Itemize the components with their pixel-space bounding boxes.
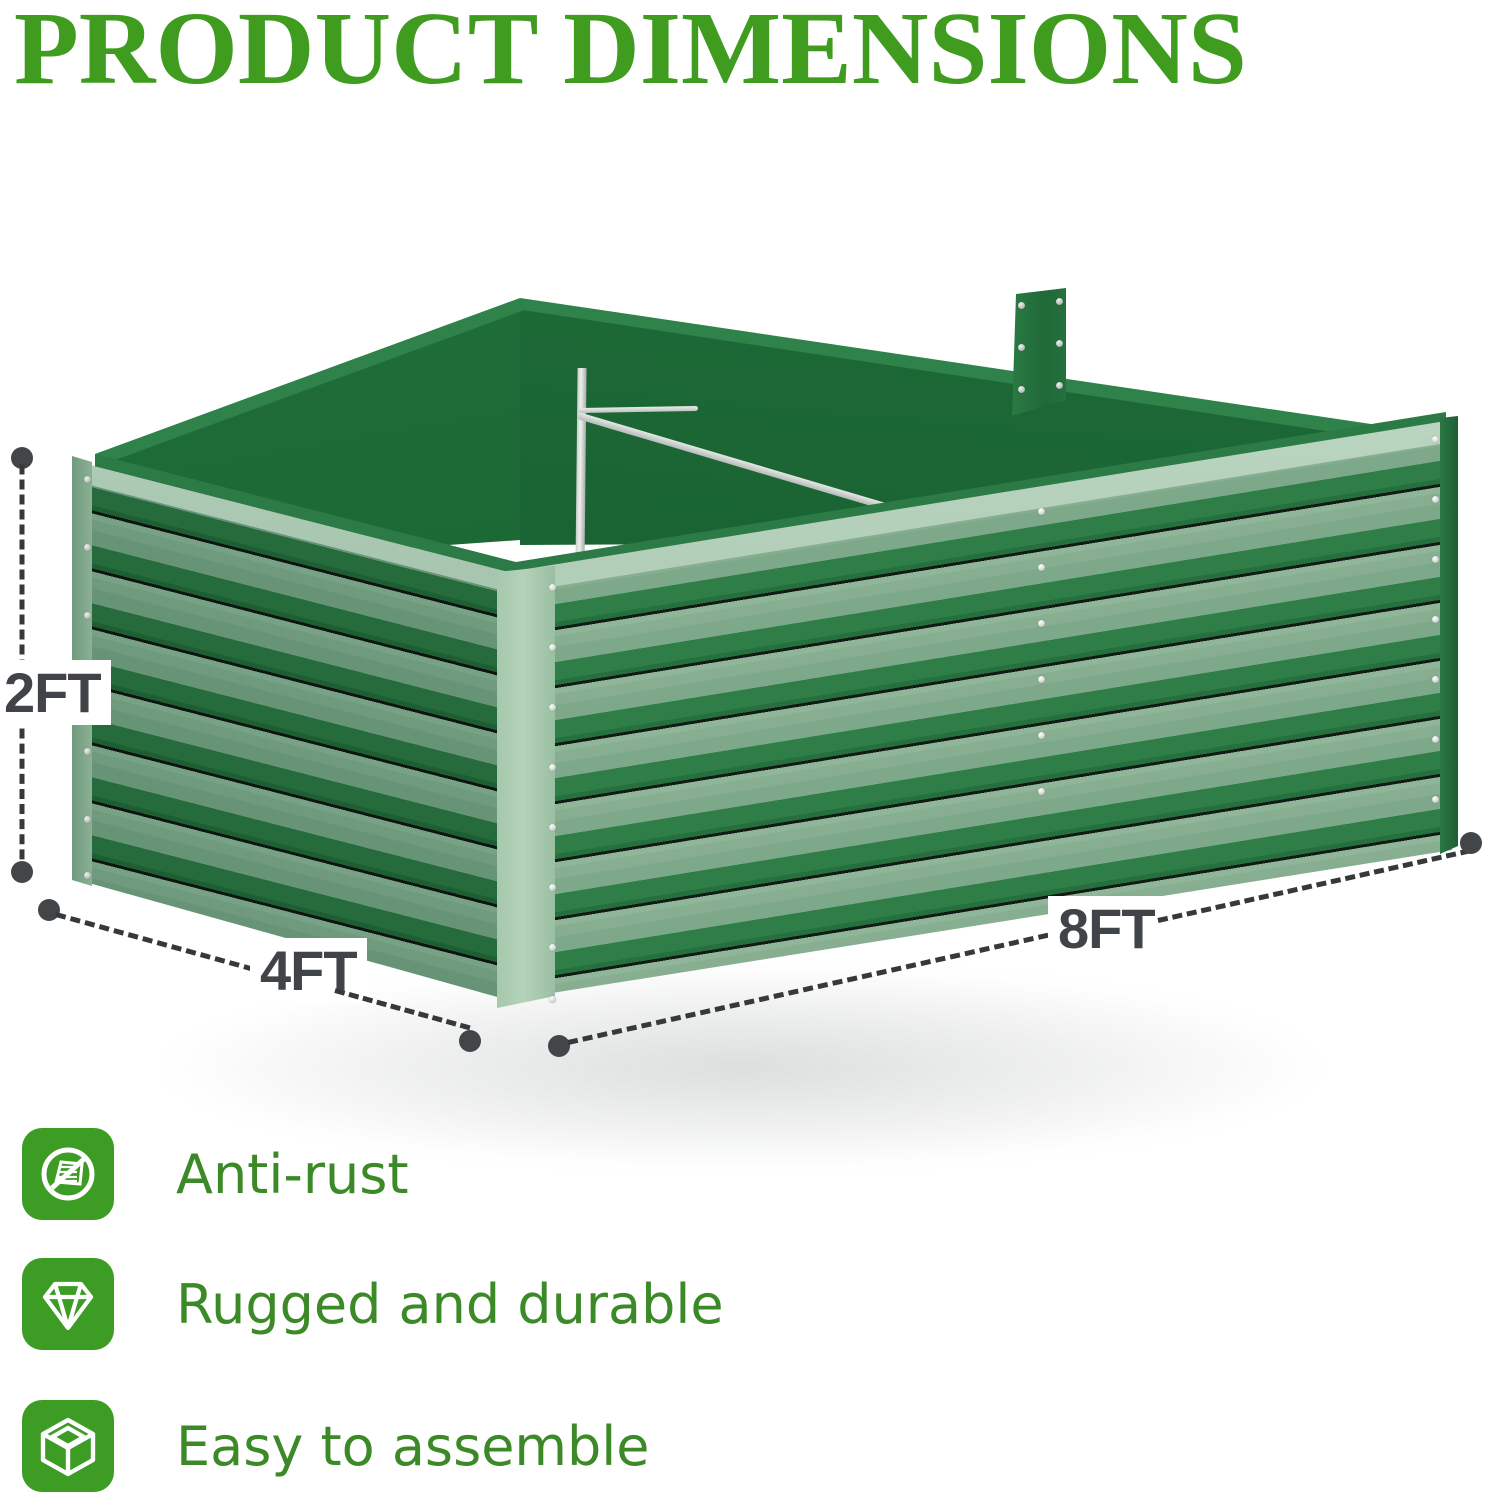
panel-screw [84,476,91,483]
panel-screw [1018,302,1025,309]
dimension-leader-line [20,729,25,875]
panel-screw [1432,796,1439,803]
bed-right-corner-post [1440,416,1458,854]
dimension-endpoint-dot [1460,832,1482,854]
product-dimensions-infographic: PRODUCT DIMENSIONS [0,0,1500,1492]
panel-screw [549,584,556,591]
panel-screw [1056,298,1063,305]
panel-screw [549,704,556,711]
panel-screw [1038,508,1045,515]
panel-screw [1432,616,1439,623]
dimension-label-8ft: 8FT [1048,896,1165,961]
isometric-cube-icon [22,1400,114,1492]
panel-screw [549,824,556,831]
panel-screw [84,544,91,551]
panel-screw [84,748,91,755]
panel-screw [1018,344,1025,351]
panel-screw [549,644,556,651]
panel-screw [1056,382,1063,389]
diamond-gem-icon [22,1258,114,1350]
dimension-leader-line [20,465,25,670]
dimension-endpoint-dot [38,899,60,921]
panel-screw [549,884,556,891]
panel-screw [1038,788,1045,795]
feature-label: Easy to assemble [176,1415,650,1478]
feature-item-anti-rust: Anti-rust [22,1128,409,1220]
feature-label: Rugged and durable [176,1273,724,1336]
panel-screw [1038,620,1045,627]
panel-screw [1056,340,1063,347]
feature-list: Anti-rust Rugged and durable [0,1110,1500,1492]
feature-item-rugged-durable: Rugged and durable [22,1258,724,1350]
feature-item-easy-assemble: Easy to assemble [22,1400,650,1492]
panel-screw [1038,676,1045,683]
panel-screw [84,872,91,879]
panel-screw [549,996,556,1003]
dimension-label-2ft: 2FT [0,660,111,725]
panel-screw [1432,436,1439,443]
panel-screw [549,944,556,951]
panel-screw [1432,676,1439,683]
dimension-endpoint-dot [11,861,33,883]
panel-screw [84,816,91,823]
panel-screw [1038,564,1045,571]
panel-screw [84,612,91,619]
bed-front-corner-post [497,566,555,1008]
panel-screw [1432,496,1439,503]
dimension-endpoint-dot [459,1030,481,1052]
no-rust-icon [22,1128,114,1220]
panel-screw [1432,556,1439,563]
panel-screw [1432,736,1439,743]
product-illustration [0,240,1500,1070]
feature-label: Anti-rust [176,1143,409,1206]
page-title: PRODUCT DIMENSIONS [14,0,1473,103]
dimension-endpoint-dot [548,1035,570,1057]
panel-screw [1018,386,1025,393]
panel-screw [1038,732,1045,739]
panel-screw [549,764,556,771]
